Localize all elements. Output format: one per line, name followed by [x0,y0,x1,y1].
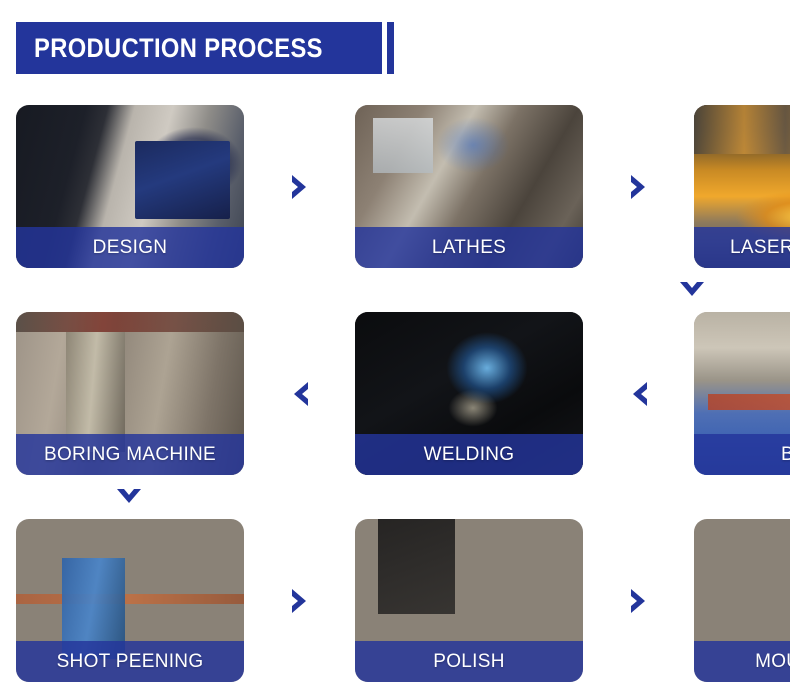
card-label-bar: SHOT PEENING [16,641,244,682]
page-header: PRODUCTION PROCESS [16,22,394,74]
card-label-bar: MOUNTING [694,641,790,682]
card-label-bar: BEND [694,434,790,475]
chevron-right-icon [620,105,657,268]
process-card-shot-peening[interactable]: SHOT PEENING [16,519,244,682]
page-title: PRODUCTION PROCESS [34,35,323,62]
row-connector-2 [16,475,774,519]
chevron-down-icon [112,482,146,512]
card-label-bar: LASER CUTTING [694,227,790,268]
process-label: BORING MACHINE [44,444,216,466]
process-card-boring-machine[interactable]: BORING MACHINE [16,312,244,475]
card-label-bar: LATHES [355,227,583,268]
card-label-bar: POLISH [355,641,583,682]
process-label: DESIGN [93,237,168,259]
process-label: LASER CUTTING [730,237,790,259]
process-card-lathes[interactable]: LATHES [355,105,583,268]
process-row-3: SHOT PEENING POLISH MOUNTING [16,519,774,682]
process-card-welding[interactable]: WELDING [355,312,583,475]
chevron-left-icon [281,312,318,475]
chevron-right-icon [281,519,318,682]
process-label: POLISH [433,651,505,673]
process-label: WELDING [424,444,515,466]
header-title-bar: PRODUCTION PROCESS [16,22,382,74]
process-label: MOUNTING [755,651,790,673]
production-process-flow: DESIGN LATHES LASER CUTTING [16,105,774,682]
process-card-laser-cutting[interactable]: LASER CUTTING [694,105,790,268]
chevron-right-icon [281,105,318,268]
card-label-bar: BORING MACHINE [16,434,244,475]
process-row-1: DESIGN LATHES LASER CUTTING [16,105,774,268]
process-card-polish[interactable]: POLISH [355,519,583,682]
card-label-bar: DESIGN [16,227,244,268]
process-label: BEND [781,444,790,466]
chevron-left-icon [620,312,657,475]
process-card-design[interactable]: DESIGN [16,105,244,268]
chevron-down-icon [675,275,709,305]
row-connector-1 [16,268,774,312]
process-card-bend[interactable]: BEND [694,312,790,475]
process-row-2: BORING MACHINE WELDING BEND [16,312,774,475]
chevron-right-icon [620,519,657,682]
process-label: SHOT PEENING [57,651,204,673]
card-label-bar: WELDING [355,434,583,475]
header-accent-bar [387,22,394,74]
process-card-mounting[interactable]: MOUNTING [694,519,790,682]
process-label: LATHES [432,237,506,259]
